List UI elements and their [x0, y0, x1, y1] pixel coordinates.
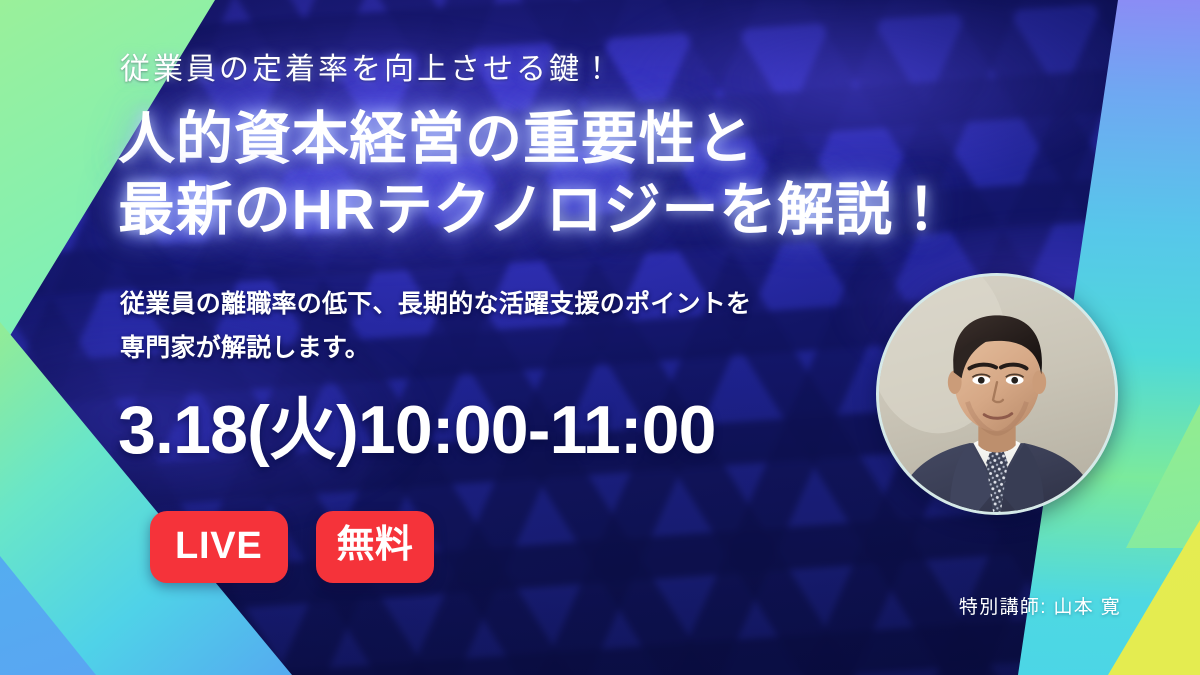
banner-content: 従業員の定着率を向上させる鍵！ 人的資本経営の重要性と 最新のHRテクノロジーを… [0, 0, 1200, 675]
status-badge-live: LIVE [150, 511, 288, 583]
speaker-caption: 特別講師: 山本 寛 [930, 592, 1150, 619]
status-badge-free: 無料 [316, 511, 435, 583]
lead-description: 従業員の離職率の低下、長期的な活躍支援のポイントを 専門家が解説します。 [120, 283, 751, 371]
lead-line-2: 専門家が解説します。 [120, 327, 751, 371]
speaker-avatar [876, 273, 1118, 515]
badge-group: LIVE 無料 [150, 511, 434, 583]
event-datetime: 3.18(火)10:00-11:00 [118, 396, 716, 464]
page-title: 人的資本経営の重要性と 最新のHRテクノロジーを解説！ [118, 104, 951, 245]
headline-line-2: 最新のHRテクノロジーを解説！ [118, 175, 951, 246]
lead-line-1: 従業員の離職率の低下、長期的な活躍支援のポイントを [120, 283, 751, 327]
webinar-banner: 従業員の定着率を向上させる鍵！ 人的資本経営の重要性と 最新のHRテクノロジーを… [0, 0, 1200, 675]
eyebrow-text: 従業員の定着率を向上させる鍵！ [120, 44, 615, 88]
headline-line-1: 人的資本経営の重要性と [118, 104, 951, 175]
